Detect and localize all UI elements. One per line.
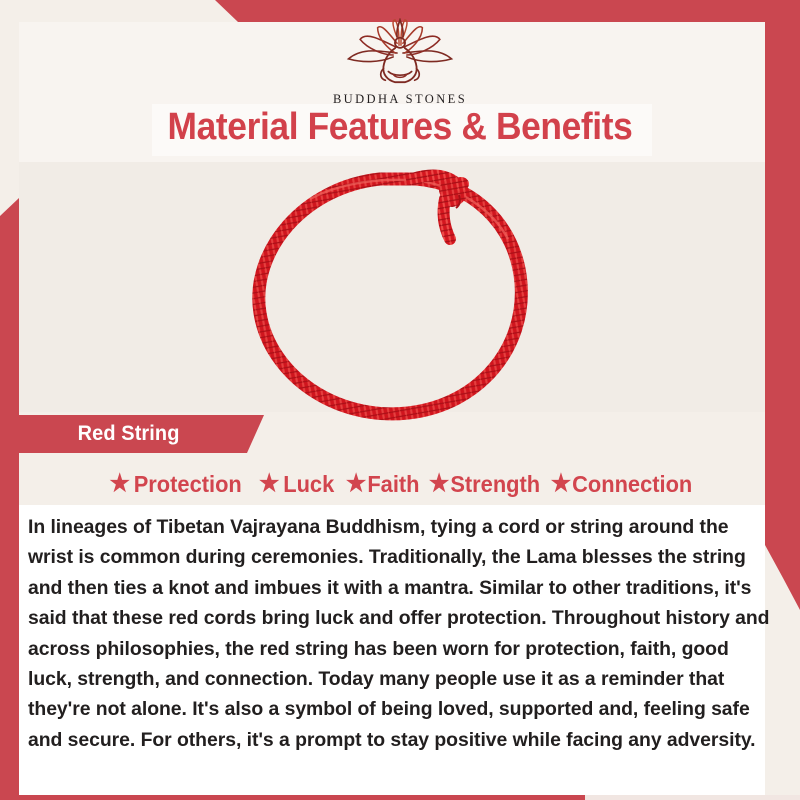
feature-label: Connection — [572, 471, 692, 498]
feature-strength: ★ Strength — [429, 471, 540, 498]
feature-connection: ★ Connection — [551, 471, 693, 498]
feature-label: Protection — [134, 471, 242, 498]
section-banner-label: Red String — [78, 422, 180, 446]
star-icon: ★ — [429, 472, 449, 496]
feature-label: Luck — [283, 471, 334, 498]
star-icon: ★ — [551, 472, 571, 496]
page-title: Material Features & Benefits — [28, 106, 772, 149]
star-icon: ★ — [346, 472, 366, 496]
feature-label: Strength — [450, 471, 540, 498]
description-paragraph: In lineages of Tibetan Vajrayana Buddhis… — [28, 512, 770, 755]
feature-luck: ★ Luck — [259, 471, 334, 498]
feature-protection: ★ Protection — [109, 471, 241, 498]
section-banner: Red String — [19, 415, 264, 453]
bottom-accent-filler — [585, 795, 800, 800]
features-row: ★ Protection ★ Luck ★ Faith ★ Strength ★… — [19, 466, 779, 502]
brand-logo: BUDDHA STONES — [0, 18, 800, 107]
star-icon: ★ — [259, 472, 279, 496]
star-icon: ★ — [109, 472, 129, 496]
infographic-canvas: BUDDHA STONES Material Features & Benefi… — [0, 0, 800, 800]
feature-label: Faith — [368, 471, 420, 498]
lotus-meditating-figure-icon — [335, 18, 465, 90]
product-image — [230, 165, 570, 430]
left-red-strip — [0, 198, 19, 800]
brand-wordmark: BUDDHA STONES — [333, 92, 467, 107]
feature-faith: ★ Faith — [346, 471, 420, 498]
